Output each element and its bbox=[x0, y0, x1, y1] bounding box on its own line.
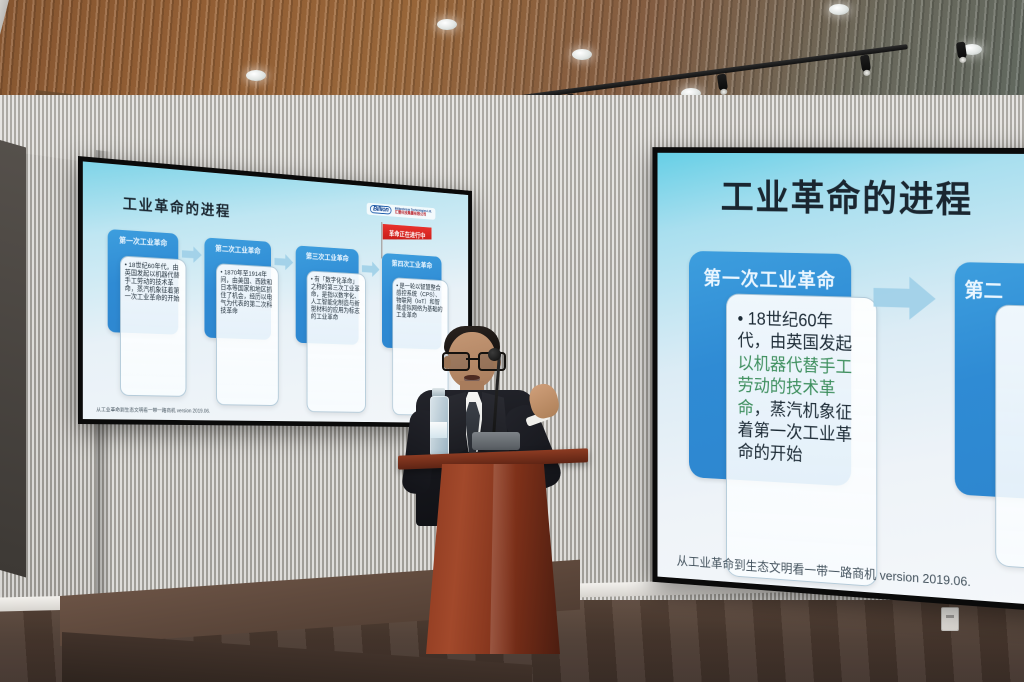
company-logo: Billion BillionGroup Technologies Ltd. 汇… bbox=[367, 203, 435, 220]
stage-body-text-4: 是一轮以智慧整合感控系统（CPS）、物联网（IoT）和智能虚拟网络为基础的工业革… bbox=[396, 283, 442, 319]
flow-arrow-3 bbox=[362, 261, 380, 278]
downlight-icon bbox=[829, 4, 849, 15]
stage-heading-1: 第一次工业革命 bbox=[108, 234, 179, 249]
right-slide-surface: 工业革命的进程 第一次工业革命 • 18世纪60年代，由英国发起以机器代替手工劳… bbox=[658, 153, 1024, 606]
stage-body-3: • 有「数字化革命」之称的第三次工业革命，是指以数字化、人工智能化制造与新型材料… bbox=[307, 270, 366, 412]
stage-heading-4: 第四次工业革命 bbox=[382, 258, 442, 272]
right-flow-arrow-1 bbox=[873, 276, 935, 321]
right-display-screen[interactable]: 工业革命的进程 第一次工业革命 • 18世纪60年代，由英国发起以机器代替手工劳… bbox=[652, 147, 1024, 612]
stage-body-text-2: 1870年至1914年间，由美国、西欧和日本等国家和地区抓住了机会，经历以电气为… bbox=[220, 269, 272, 315]
microphone-icon bbox=[488, 348, 501, 361]
stage-body-text-1: 18世纪60年代，由英国发起以机器代替手工劳动的技术革命，蒸汽机象征着第一次工业… bbox=[125, 262, 180, 303]
wall-socket-icon bbox=[941, 607, 959, 631]
conference-room-scene: 工业革命的进程 Billion BillionGroup Technologie… bbox=[0, 0, 1024, 682]
logo-mark: Billion bbox=[370, 205, 392, 215]
right-stage-body-1: • 18世纪60年代，由英国发起以机器代替手工劳动的技术革命，蒸汽机象征着第一次… bbox=[726, 293, 877, 587]
water-bottle-label bbox=[430, 422, 447, 438]
laptop bbox=[472, 432, 520, 450]
flow-arrow-1 bbox=[182, 246, 202, 264]
status-flag-banner: 革命正在进行中 bbox=[383, 224, 432, 243]
stage-body-2: • 1870年至1914年间，由美国、西欧和日本等国家和地区抓住了机会，经历以电… bbox=[216, 263, 279, 406]
downlight-icon bbox=[572, 49, 592, 60]
podium-highlight bbox=[490, 464, 516, 654]
right-body-plain-1: 18世纪60年代，由英国发起 bbox=[738, 309, 853, 354]
downlight-icon bbox=[246, 70, 266, 81]
flow-arrow-2 bbox=[274, 253, 293, 270]
slide-title: 工业革命的进程 bbox=[123, 193, 231, 222]
podium[interactable] bbox=[398, 452, 588, 652]
glasses-lens-left bbox=[442, 352, 470, 371]
stage-heading-2: 第二次工业革命 bbox=[204, 242, 271, 257]
stage-body-1: • 18世纪60年代，由英国发起以机器代替手工劳动的技术革命，蒸汽机象征着第一次… bbox=[120, 256, 186, 397]
right-body-plain-2: ，蒸汽机象征着第一次工业革命的开始 bbox=[738, 398, 853, 464]
left-wall-dark-edge bbox=[0, 140, 26, 577]
stage-heading-3: 第三次工业革命 bbox=[296, 250, 359, 264]
right-stage-heading-1: 第一次工业革命 bbox=[689, 262, 851, 294]
right-slide-title: 工业革命的进程 bbox=[721, 168, 973, 223]
right-stage-body-2 bbox=[995, 304, 1024, 574]
glasses-bridge bbox=[466, 358, 478, 360]
right-stage-heading-2: 第二 bbox=[964, 274, 1024, 306]
flag-pole bbox=[381, 222, 383, 258]
slide-footer: 从工业革命到生态文明看一带一路商机 version 2019.06. bbox=[96, 406, 210, 414]
stage-body-text-3: 有「数字化革命」之称的第三次工业革命，是指以数字化、人工智能化制造与新型材料的应… bbox=[311, 276, 360, 321]
downlight-icon bbox=[437, 19, 457, 30]
